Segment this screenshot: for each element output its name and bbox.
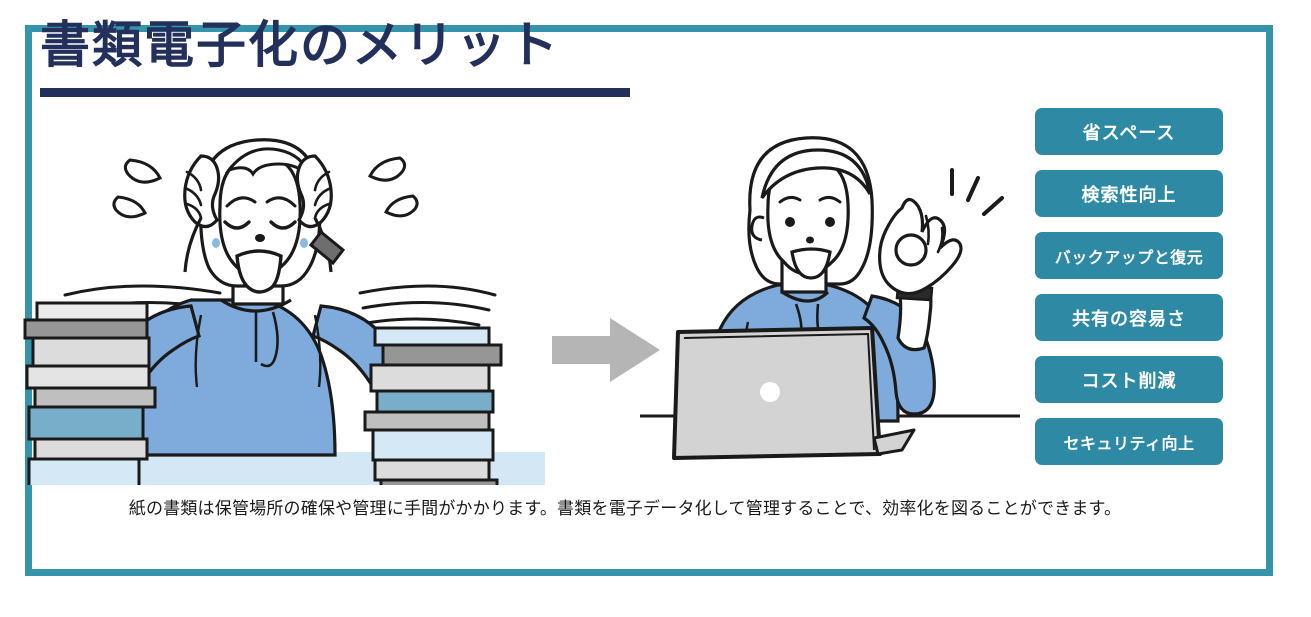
wristwatch [311,232,343,263]
badge-benefit-2[interactable]: 検索性向上 [1035,170,1223,217]
badge-benefit-1[interactable]: 省スペース [1035,108,1223,155]
paper-stack-right [365,328,501,485]
illustration-stressed-person [15,110,545,485]
badge-benefit-6[interactable]: セキュリティ向上 [1035,418,1223,465]
caption-text: 紙の書類は保管場所の確保や管理に手間がかかります。書類を電子データ化して管理する… [20,498,1230,522]
badge-benefit-3[interactable]: バックアップと復元 [1035,232,1223,279]
cheek-drop-right [300,238,308,248]
badge-benefit-4[interactable]: 共有の容易さ [1035,294,1223,341]
title-underline-rule [40,88,630,97]
ok-circle [896,235,926,265]
nose [806,237,814,244]
paper-stack-left [25,303,155,485]
laptop-logo [760,382,780,402]
eye-right [825,217,835,227]
sweat-drops-left [114,160,160,217]
stressed-person-svg [15,110,545,485]
slide-root: 書類電子化のメリット [0,0,1311,617]
eye-left [785,217,795,227]
ear [752,217,764,240]
illustration-happy-person-laptop [630,110,1030,485]
page-title: 書類電子化のメリット [40,17,740,75]
nose [255,234,265,242]
cheek-drop-left [212,238,220,248]
sparkle-lines [952,170,1002,214]
benefits-badge-list: 省スペース 検索性向上 バックアップと復元 共有の容易さ コスト削減 セキュリテ… [1035,108,1225,480]
badge-benefit-5[interactable]: コスト削減 [1035,356,1223,403]
sweat-drops-right [370,158,417,216]
happy-person-svg [630,110,1030,485]
motion-lines-right [360,286,495,325]
title-block: 書類電子化のメリット [40,17,740,75]
forearm-left [185,218,201,272]
